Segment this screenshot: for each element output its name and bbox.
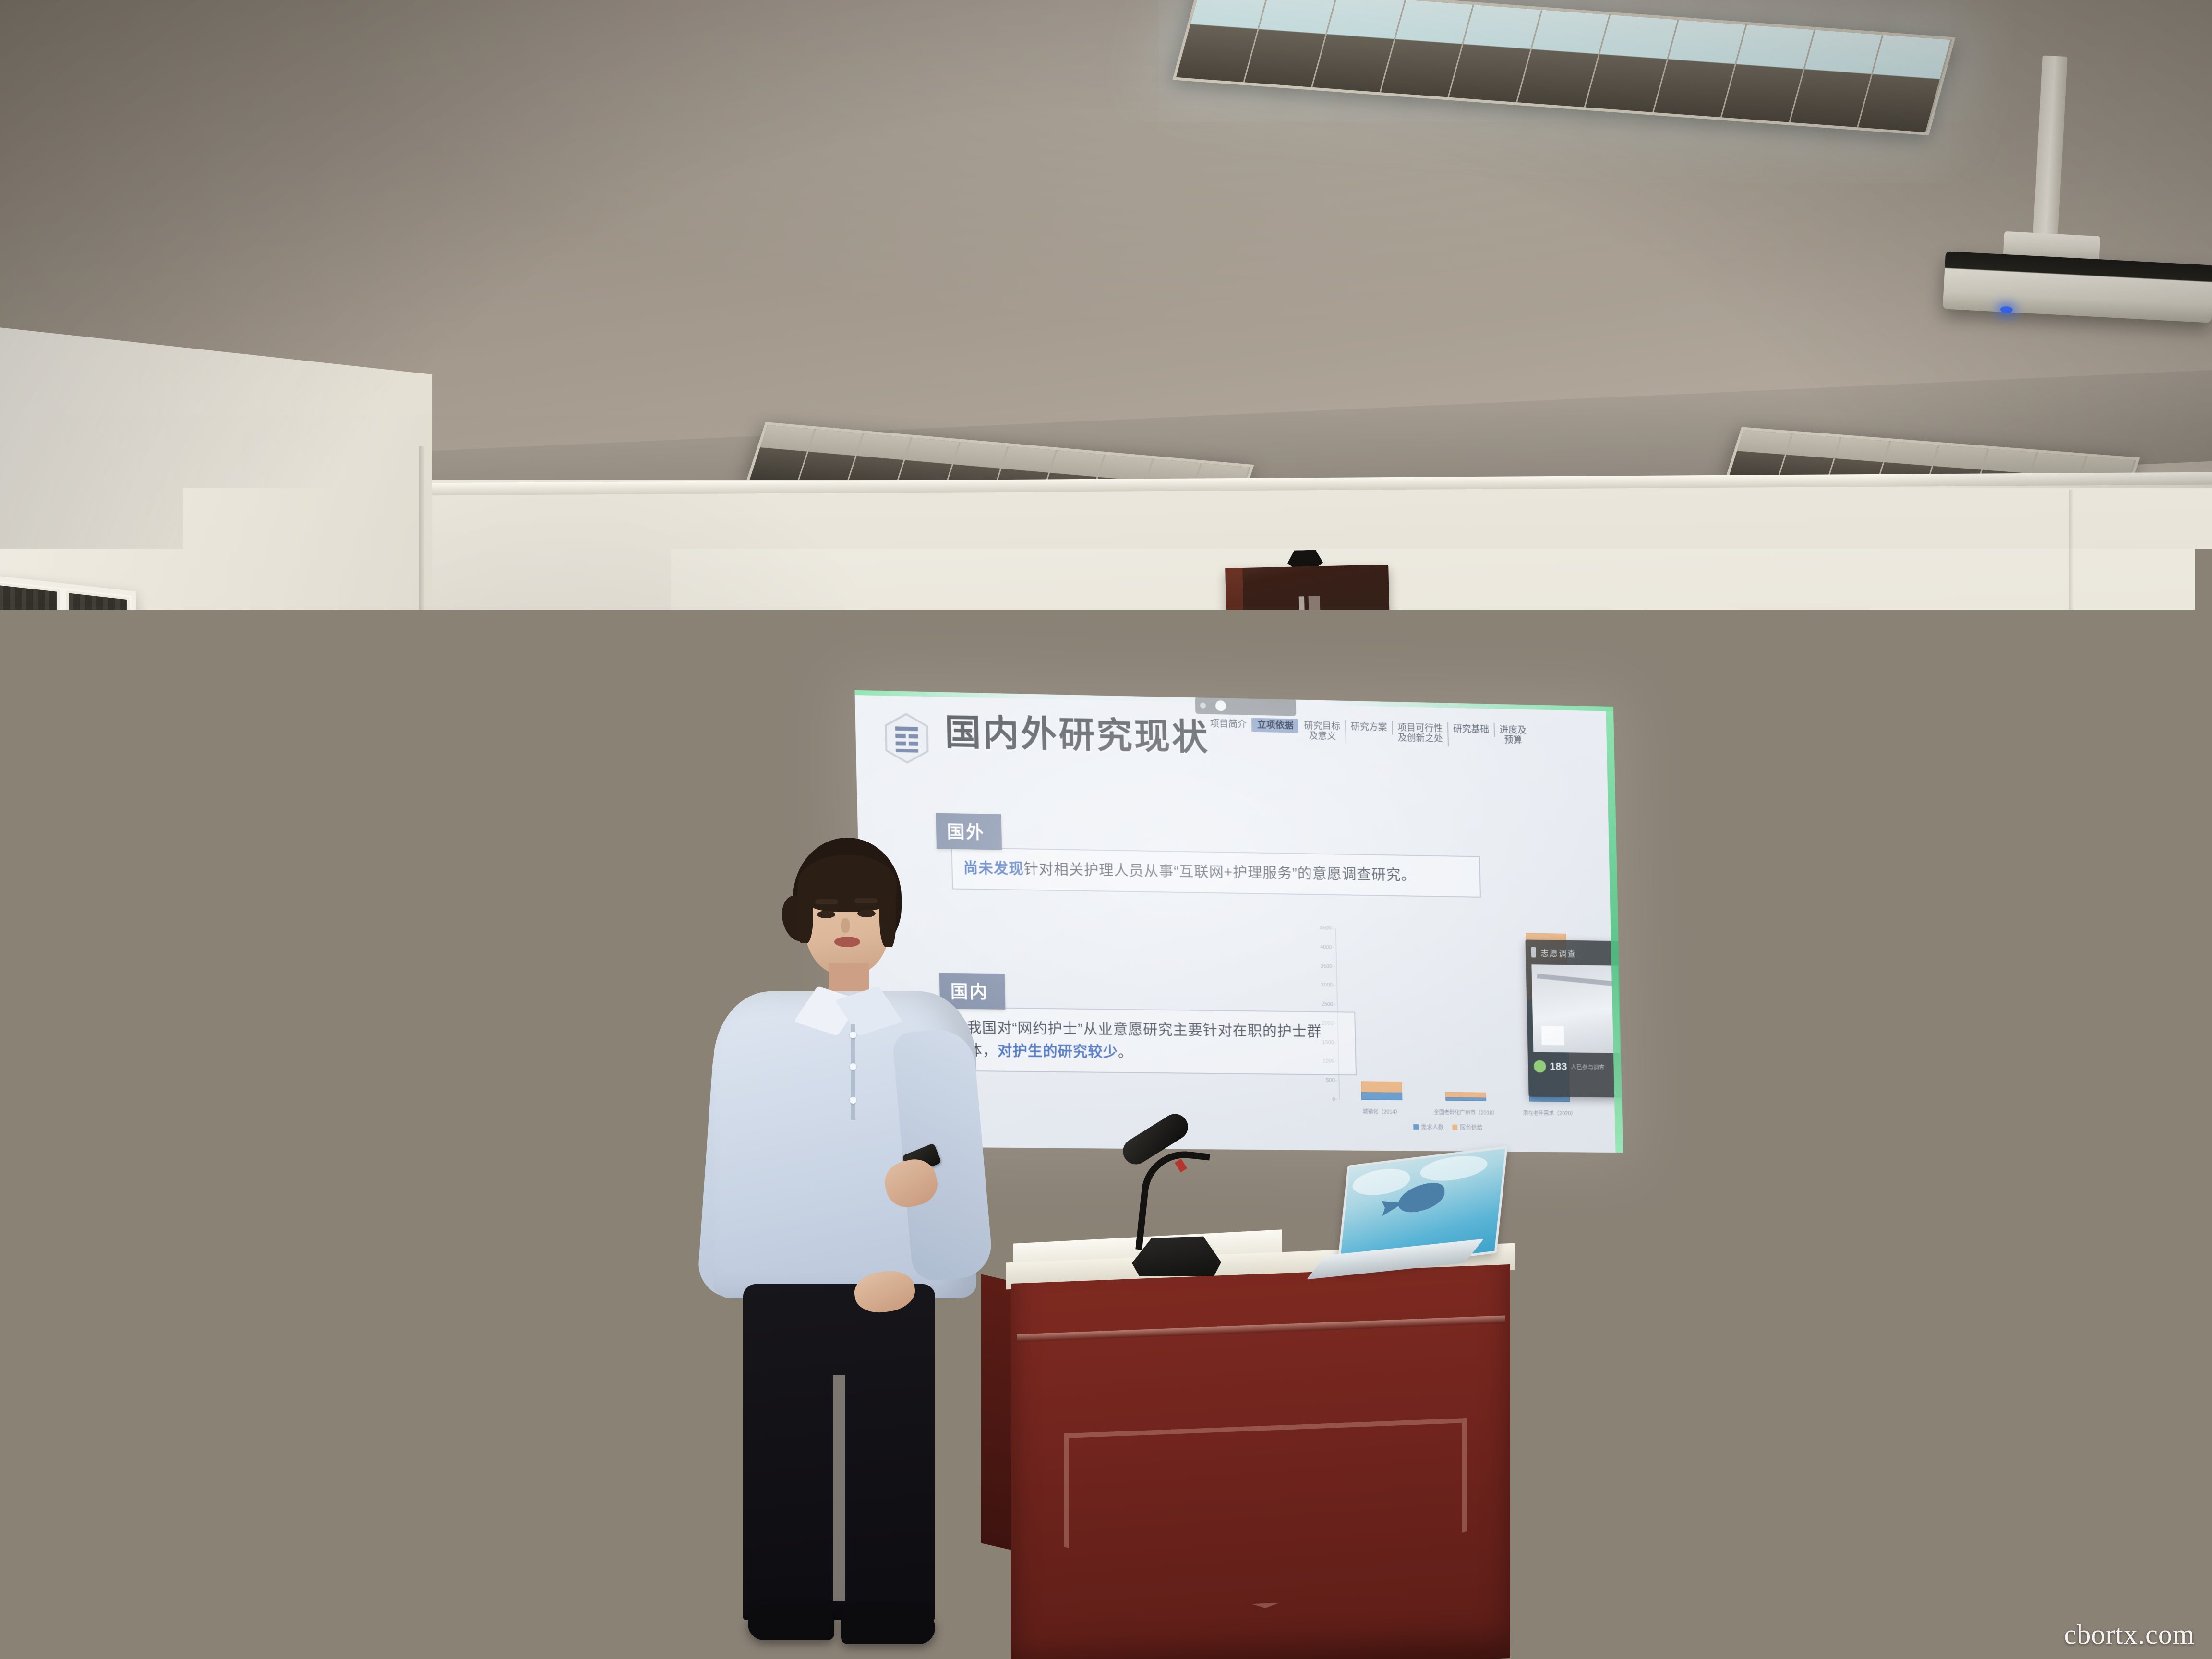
hexagon-list-icon	[883, 712, 931, 764]
projector-body	[1943, 251, 2212, 323]
status-dot-icon	[1200, 702, 1206, 708]
chart-bar-group	[1358, 929, 1403, 1100]
window-glare-spot	[33, 700, 47, 714]
gooseneck-microphone[interactable]	[1123, 1133, 1219, 1277]
chart-legend-item: 服务供给	[1452, 1123, 1483, 1131]
chart-x-tick-label: 城镇化（2014）	[1362, 1107, 1400, 1116]
presenter	[710, 838, 979, 1649]
eye-left	[817, 911, 835, 918]
tab-research-goal[interactable]: 研究目标 及意义	[1299, 719, 1346, 744]
shoe-right	[841, 1609, 935, 1644]
chart-x-tick-label: 全国老龄化广州市（2018）	[1434, 1108, 1498, 1117]
tab-research-plan[interactable]: 研究方案	[1346, 720, 1393, 735]
slide-title: 国内外研究现状	[944, 714, 1210, 756]
window-glare	[35, 639, 42, 793]
hair-side-right	[879, 875, 896, 947]
eyebrow-right	[854, 898, 878, 903]
shoe-left	[748, 1605, 834, 1640]
slide-nav-tabs[interactable]: 项目简介 立项依据 研究目标 及意义 研究方案 项目可行性 及创新之处 研究基础…	[1205, 717, 1587, 749]
block-body-foreign: 尚未发现针对相关护理人员从事“互联网+护理服务”的意愿调查研究。	[951, 847, 1481, 898]
status-text-right	[1230, 702, 1232, 709]
widget-header: 志愿调查	[1525, 939, 1623, 965]
chart-bar-segment-supply	[1445, 1092, 1486, 1098]
monitor-screen	[1532, 1494, 1734, 1659]
curtain	[69, 593, 127, 878]
tab-schedule-budget[interactable]: 进度及 预算	[1495, 723, 1532, 748]
wall-panel-lower-left	[0, 1458, 86, 1659]
widget-subtext: 人已参与调查	[1571, 1063, 1605, 1071]
mouth	[834, 937, 860, 947]
tab-project-basis[interactable]: 立项依据	[1252, 718, 1298, 733]
eyebrow-left	[815, 899, 838, 904]
content-block-domestic: 国内 我国对“网约护士”从业意愿研究主要针对在职的护士群体，对护生的研究较少。	[939, 973, 1357, 1076]
ceiling-projector	[1942, 223, 2212, 343]
wallpaper-cloud	[1351, 1166, 1411, 1198]
chart-bar-group	[1442, 930, 1487, 1101]
nameplate-logo-icon	[1972, 1597, 1984, 1608]
nameplate-org: 护理学院	[1987, 1594, 2022, 1608]
hair-side-left	[797, 876, 813, 943]
speaker-grille	[1309, 596, 1321, 611]
widget-footer: 183 人已参与调查	[1528, 1052, 1623, 1082]
chart-y-tick	[1331, 928, 1334, 928]
chart-y-tick	[1331, 947, 1334, 948]
shirt-button	[850, 1097, 856, 1104]
block-text-foreign: 针对相关护理人员从事“互联网+护理服务”的意愿调查研究。	[1023, 861, 1416, 883]
chart-legend-item: 需求人数	[1413, 1123, 1444, 1131]
chart-x-tick-label: 潜在老年需求（2020）	[1523, 1109, 1576, 1117]
desk-monitor[interactable]	[1519, 1475, 1740, 1659]
curtain	[0, 585, 57, 870]
widget-count: 183	[1550, 1060, 1567, 1073]
chart-y-tick-label: 4500	[1320, 925, 1332, 931]
wall-speaker	[1225, 565, 1390, 645]
chart-bar-segment-demand	[1445, 1097, 1486, 1101]
speaker-body	[1225, 565, 1390, 645]
chart-y-tick	[1334, 1099, 1338, 1100]
eye-right	[857, 910, 876, 917]
wall-scuff	[576, 610, 598, 617]
block-body-domestic: 我国对“网约护士”从业意愿研究主要针对在职的护士群体，对护生的研究较少。	[955, 1007, 1357, 1076]
wooden-podium	[1006, 1253, 1515, 1659]
podium-side	[981, 1274, 1013, 1550]
emergency-light-indicator	[2110, 735, 2117, 743]
sliding-window[interactable]	[0, 575, 136, 899]
content-block-foreign: 国外 尚未发现针对相关护理人员从事“互联网+护理服务”的意愿调查研究。	[936, 813, 1481, 898]
status-text-left	[1210, 702, 1212, 709]
chart-y-tick	[1331, 966, 1335, 966]
chart-y-tick-label: 4000	[1320, 944, 1332, 950]
chart-y-tick	[1334, 1080, 1338, 1081]
tab-project-intro[interactable]: 项目简介	[1205, 717, 1253, 732]
nameplate-logo: 护理学院	[1972, 1594, 2022, 1609]
screen-content-line	[1563, 1530, 1674, 1554]
tab-feasibility[interactable]: 项目可行性 及创新之处	[1393, 721, 1449, 746]
nose	[841, 918, 850, 933]
shirt-placket	[851, 1024, 855, 1120]
emergency-light-body	[2103, 709, 2164, 752]
emergency-lamp-left	[2094, 692, 2122, 717]
screen-content-block	[1669, 1564, 1706, 1616]
room-photo-scene: 国内外研究现状 项目简介 立项依据 研究目标 及意义 研究方案 项目可行性 及创…	[0, 0, 2212, 1659]
shirt-button	[850, 1063, 856, 1070]
shirt-button	[850, 1032, 856, 1038]
chart-y-tick-label: 3500	[1321, 963, 1333, 969]
chart-legend: 需求人数服务供给	[1413, 1123, 1483, 1131]
watermark: cbortx.com	[2064, 1618, 2195, 1650]
table-microphone-2[interactable]	[2122, 1094, 2203, 1205]
embedded-survey-widget[interactable]: 志愿调查 183 人已参与调查	[1525, 939, 1623, 1097]
chart-bar-segment-supply	[1361, 1081, 1403, 1092]
widget-avatar-icon	[1534, 1060, 1546, 1072]
wallpaper-cloud	[1419, 1153, 1489, 1184]
widget-title: 志愿调查	[1540, 946, 1576, 959]
table-microphone-1[interactable]	[1997, 1104, 2079, 1214]
block-highlight-domestic: 对护生的研究较少	[998, 1043, 1118, 1060]
laptop[interactable]	[1295, 1155, 1499, 1288]
window-pane-left	[0, 582, 60, 873]
screen-content-block	[1573, 1564, 1662, 1634]
window-pane-right	[66, 590, 130, 881]
wall-sticker	[576, 854, 595, 874]
emergency-light-slot	[2111, 718, 2137, 730]
widget-thumbnail	[1531, 964, 1620, 1053]
chart-bar-segment-demand	[1361, 1092, 1403, 1100]
speaker-side	[1225, 568, 1244, 645]
block-text-domestic-tail: 。	[1118, 1044, 1133, 1059]
leg-gap	[833, 1375, 845, 1601]
tab-research-basis[interactable]: 研究基础	[1448, 722, 1495, 737]
widget-bar-icon	[1531, 947, 1536, 958]
emergency-light	[2094, 687, 2172, 757]
